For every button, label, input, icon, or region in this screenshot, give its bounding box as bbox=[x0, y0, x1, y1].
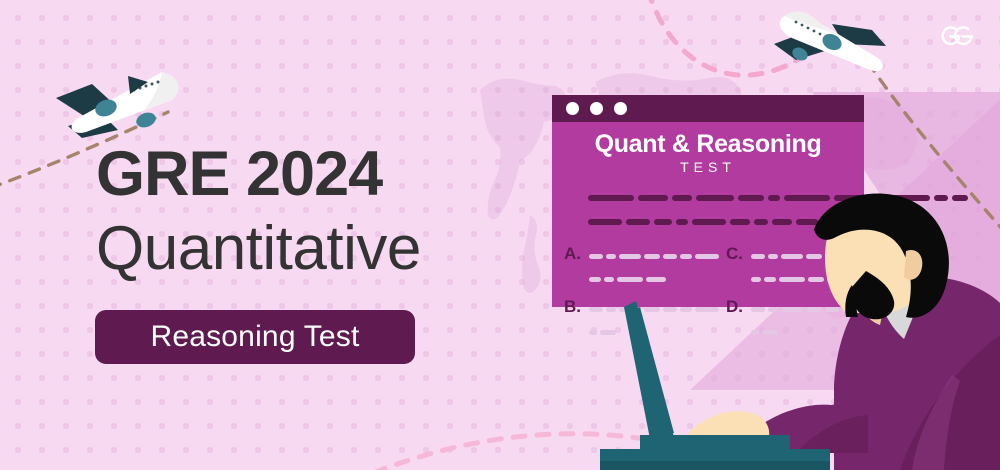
window-dot-close[interactable] bbox=[566, 102, 579, 115]
card-titlebar bbox=[552, 95, 864, 122]
placeholder-dash bbox=[589, 330, 597, 335]
reasoning-test-button[interactable]: Reasoning Test bbox=[95, 310, 415, 364]
student-at-laptop-illustration bbox=[600, 185, 1000, 470]
headline-line-2: Quantitative bbox=[96, 218, 421, 280]
card-subtitle: TEST bbox=[564, 159, 852, 175]
airplane-icon-left bbox=[44, 62, 190, 150]
answer-letter: B. bbox=[564, 298, 583, 315]
card-title: Quant & Reasoning bbox=[564, 131, 852, 157]
window-dot-minimize[interactable] bbox=[590, 102, 603, 115]
window-dot-maximize[interactable] bbox=[614, 102, 627, 115]
gre-banner: GRE 2024 Quantitative Reasoning Test Qua… bbox=[0, 0, 1000, 470]
geeksforgeeks-logo[interactable] bbox=[934, 18, 982, 52]
airplane-icon-right bbox=[766, 2, 896, 78]
headline-line-1: GRE 2024 bbox=[96, 143, 421, 206]
page-title: GRE 2024 Quantitative bbox=[96, 143, 421, 280]
answer-letter: A. bbox=[564, 245, 583, 262]
